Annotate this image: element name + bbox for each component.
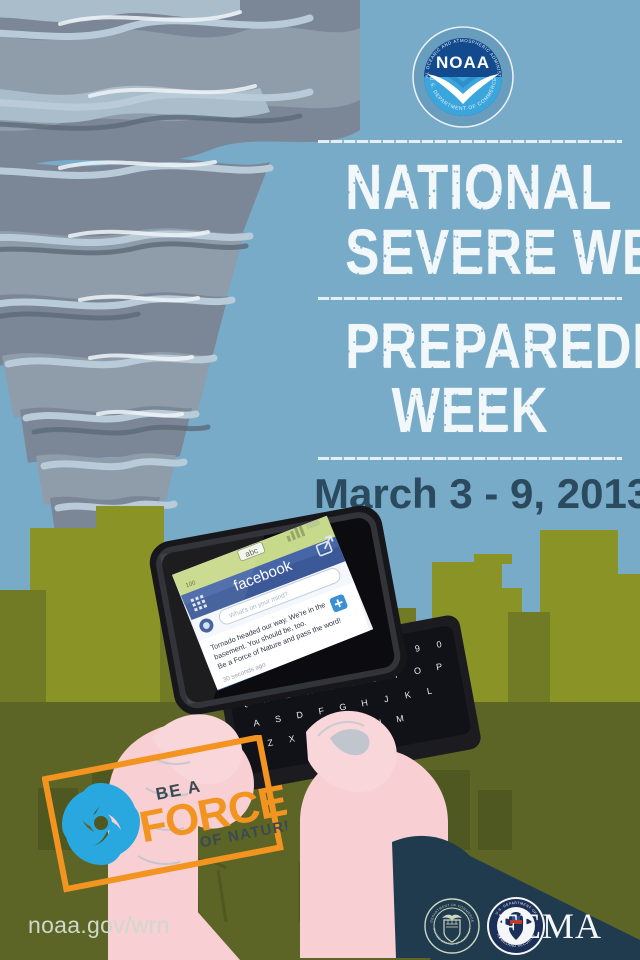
title-line-2: SEVERE WEATHER [345,222,595,283]
svg-text:UNITED STATES OF AMERICA: UNITED STATES OF AMERICA [432,927,472,946]
fema-wordmark: FEMA [498,905,602,947]
title-line-3: PREPAREDNESS [345,316,595,377]
force-swirl-icon [62,783,140,865]
title-line-1: NATIONAL [345,157,595,218]
title-rule-bottom [318,457,622,460]
title-line-1-text: NATIONAL [345,151,612,223]
commerce-ring-bottom: UNITED STATES OF AMERICA [432,927,472,946]
title-block: NATIONAL SEVERE WEATHER PREPAREDNESS WEE… [314,140,626,518]
title-line-3-text: PREPAREDNESS [345,310,640,382]
noaa-url: noaa.gov/wrn [28,912,170,939]
force-of-nature-badge: BE A FORCE OF NATURE [42,735,287,895]
title-line-4-text: WEEK [392,374,549,446]
commerce-seal: DEPARTMENT OF COMMERCE UNITED STATES OF … [424,898,480,954]
noaa-logo: NOAA NATIONAL OCEANIC AND ATMOSPHERIC AD… [410,24,516,130]
poster-root: NOAA NATIONAL OCEANIC AND ATMOSPHERIC AD… [0,0,640,960]
title-line-2-text: SEVERE WEATHER [345,216,640,288]
title-rule-top [318,140,622,143]
noaa-wordmark: NOAA [436,53,490,72]
title-rule-middle [318,297,622,300]
title-line-4: WEEK [345,380,595,441]
